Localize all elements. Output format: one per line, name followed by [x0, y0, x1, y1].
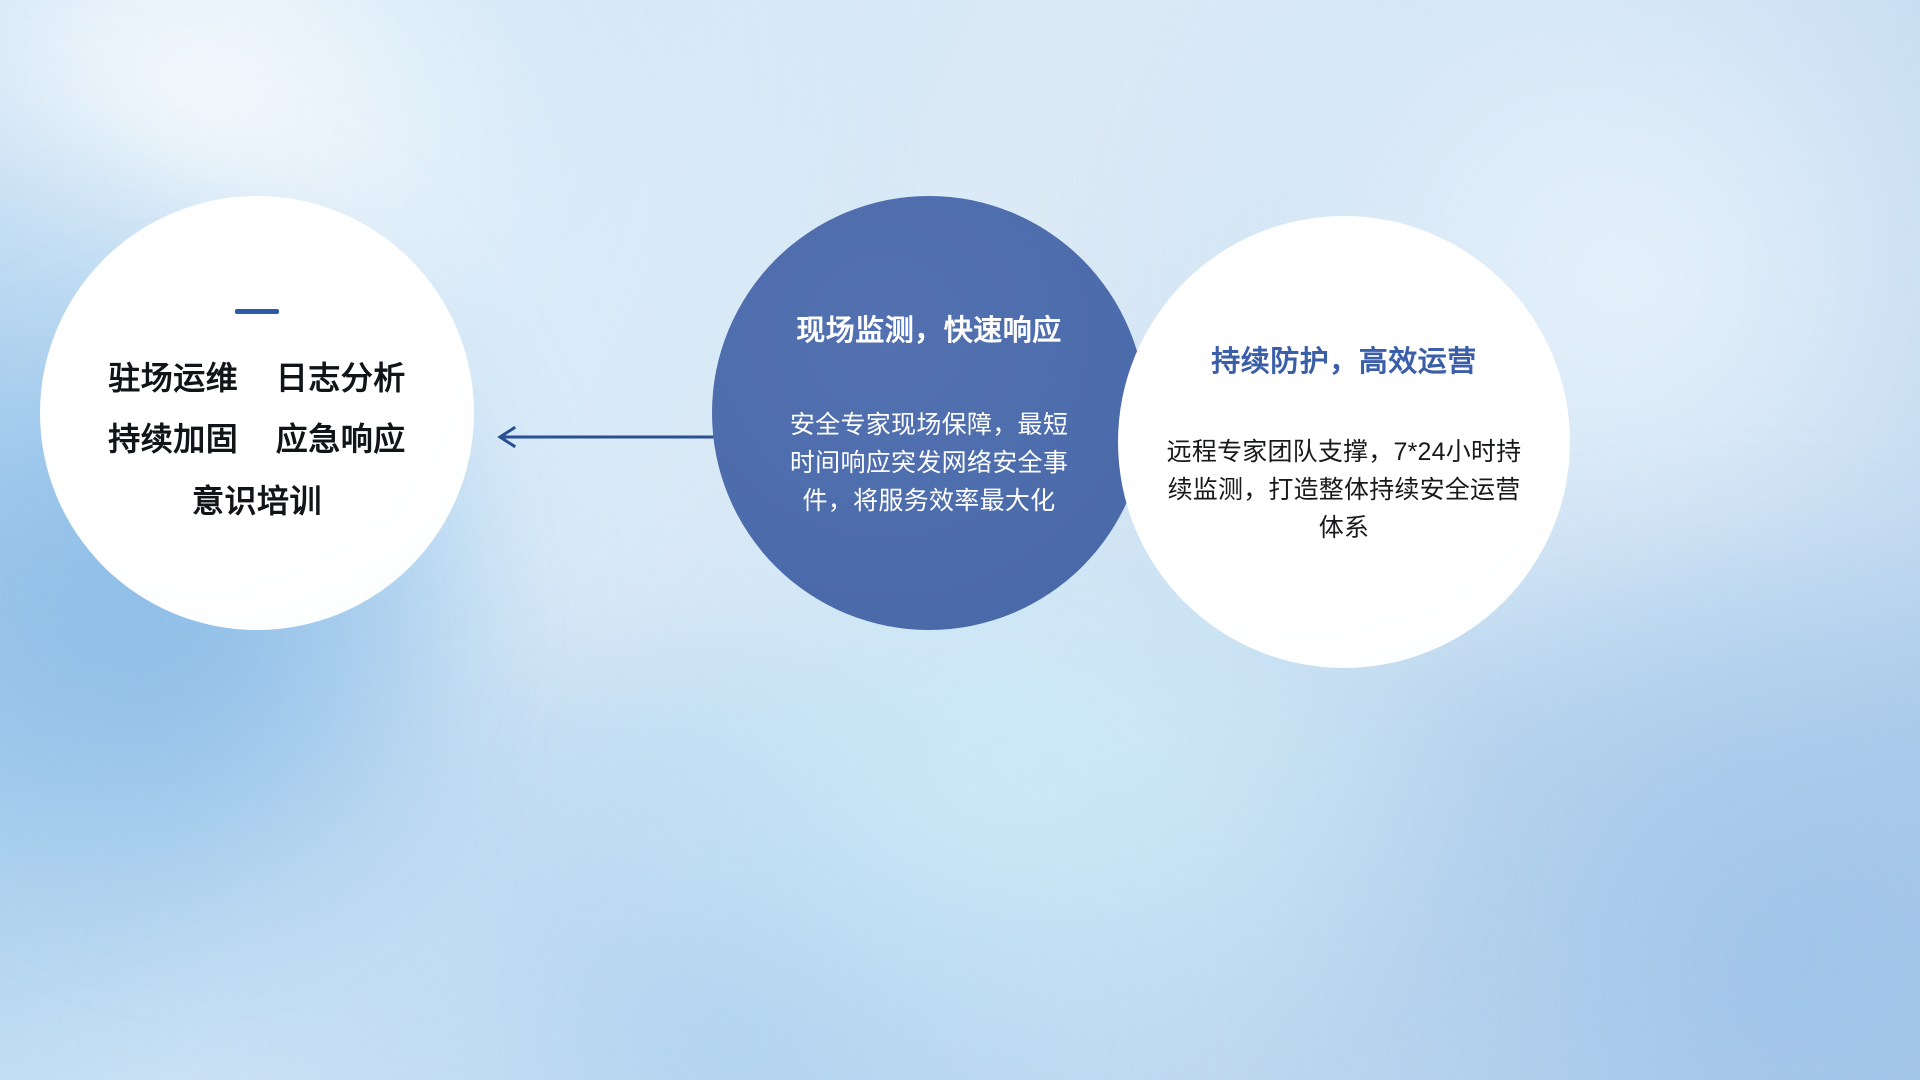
onsite-monitoring-body: 安全专家现场保障，最短时间响应突发网络安全事件，将服务效率最大化	[779, 406, 1079, 520]
continuous-protection-body: 远程专家团队支撑，7*24小时持续监测，打造整体持续安全运营体系	[1158, 433, 1530, 547]
capability-line-3: 意识培训	[192, 485, 322, 518]
connector-arrow-left	[488, 424, 722, 450]
onsite-monitoring-title: 现场监测，快速响应	[796, 307, 1062, 349]
continuous-protection-title: 持续防护，高效运营	[1211, 338, 1477, 380]
capability-line-1: 驻场运维 日志分析	[108, 362, 406, 395]
node-onsite-monitoring[interactable]: 现场监测，快速响应 安全专家现场保障，最短时间响应突发网络安全事件，将服务效率最…	[712, 196, 1146, 630]
node-continuous-protection[interactable]: 持续防护，高效运营 远程专家团队支撑，7*24小时持续监测，打造整体持续安全运营…	[1118, 216, 1570, 668]
capability-line-2: 持续加固 应急响应	[108, 423, 406, 456]
diagram-canvas: 驻场运维 日志分析 持续加固 应急响应 意识培训 现场监测，快速响应 安全专家现…	[0, 0, 1920, 1080]
node-capabilities[interactable]: 驻场运维 日志分析 持续加固 应急响应 意识培训	[40, 196, 474, 630]
divider-dash	[235, 309, 279, 314]
